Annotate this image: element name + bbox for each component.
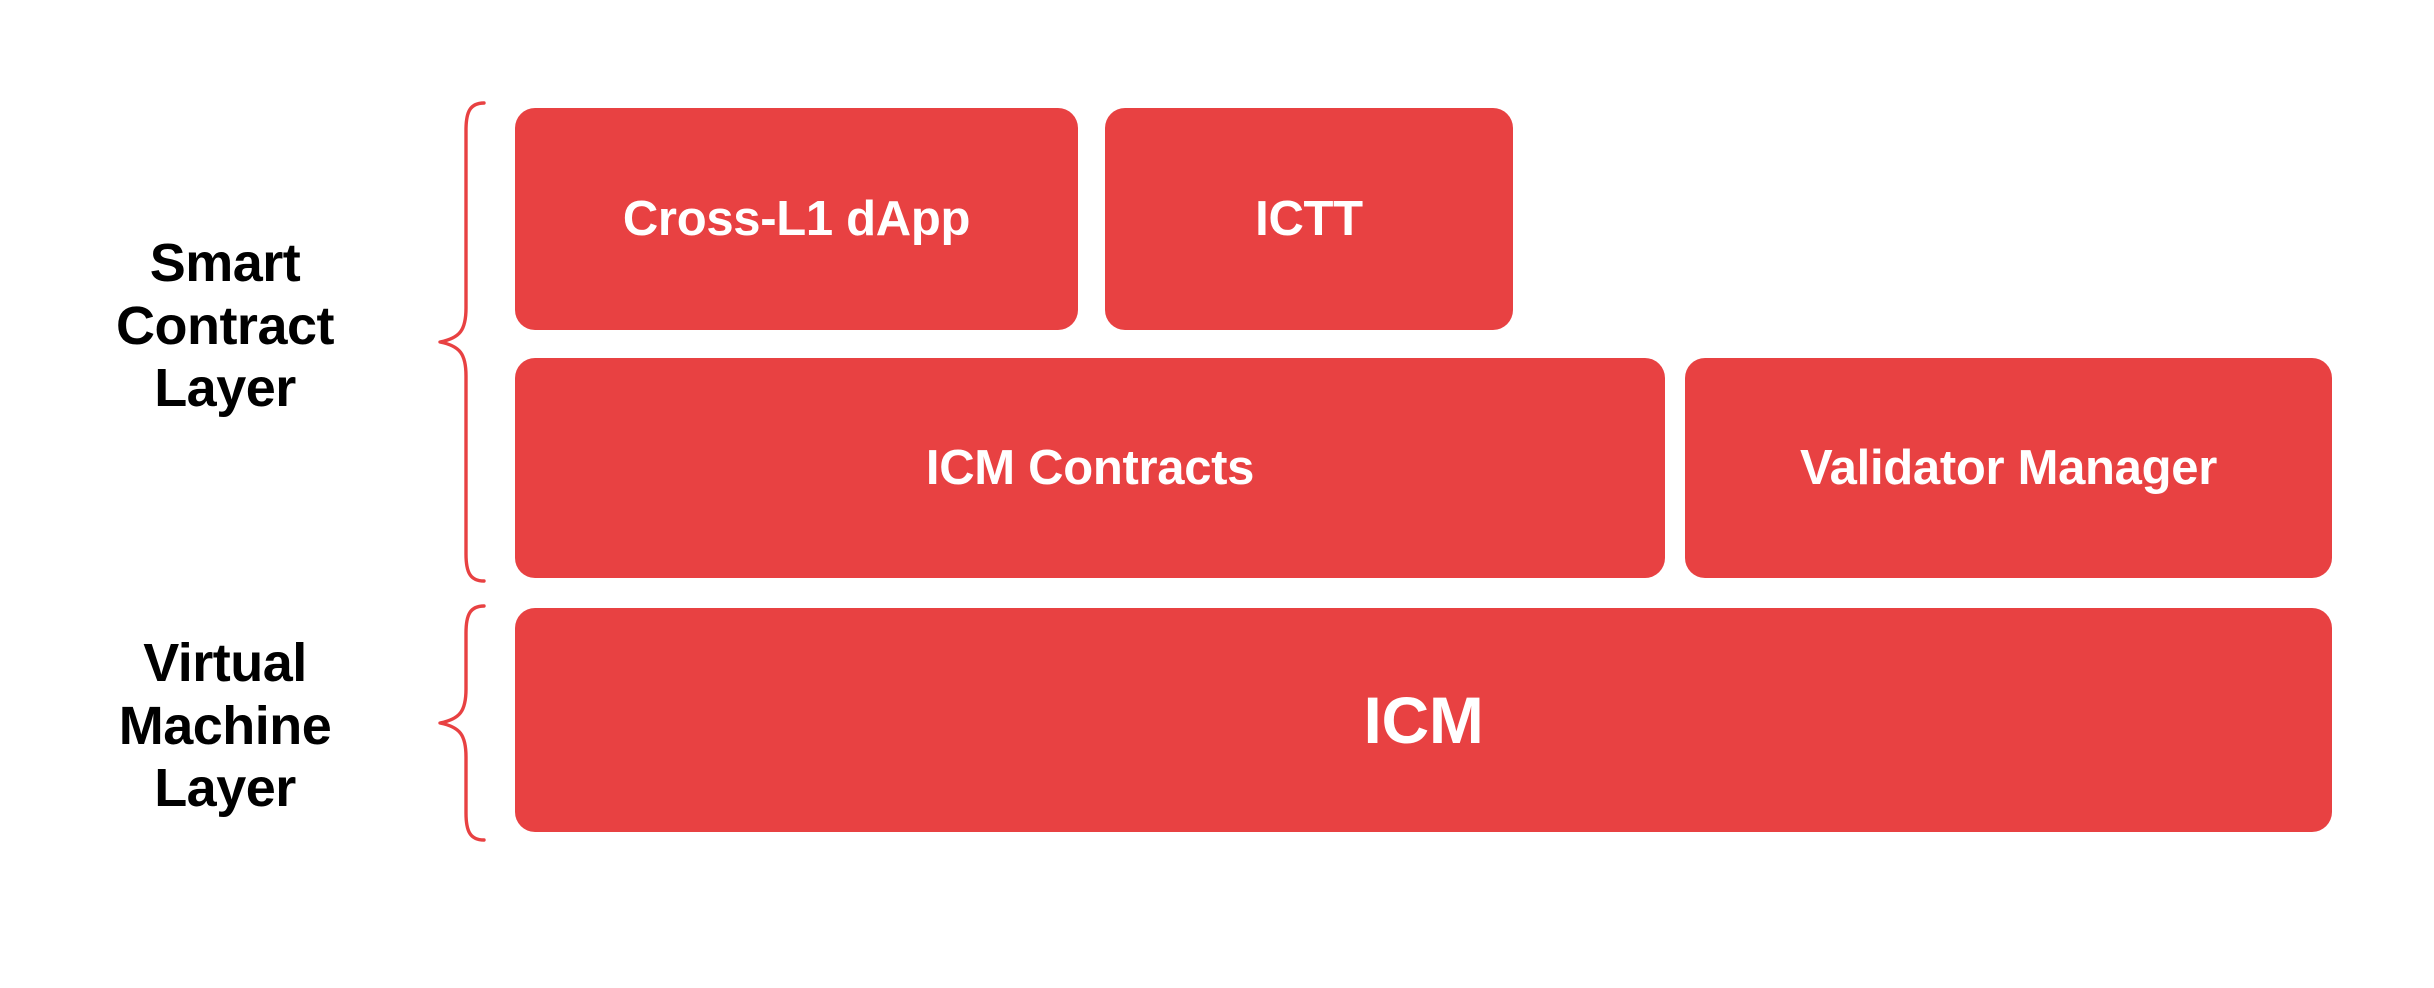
curly-brace-icon-virtual-machine-layer: [432, 603, 492, 843]
block-label-validator-manager: Validator Manager: [1800, 440, 2217, 496]
block-label-ictt: ICTT: [1255, 191, 1363, 247]
block-icm[interactable]: ICM: [515, 608, 2332, 832]
diagram-canvas: Smart Contract Layer Virtual Machine Lay…: [0, 0, 2434, 988]
block-label-cross-l1-dapp: Cross-L1 dApp: [623, 191, 970, 247]
block-ictt[interactable]: ICTT: [1105, 108, 1513, 330]
block-cross-l1-dapp[interactable]: Cross-L1 dApp: [515, 108, 1078, 330]
block-icm-contracts[interactable]: ICM Contracts: [515, 358, 1665, 578]
layer-label-virtual-machine-layer: Virtual Machine Layer: [60, 632, 390, 820]
block-label-icm: ICM: [1363, 682, 1483, 758]
block-validator-manager[interactable]: Validator Manager: [1685, 358, 2332, 578]
curly-brace-icon-smart-contract-layer: [432, 100, 492, 584]
block-label-icm-contracts: ICM Contracts: [926, 440, 1254, 496]
layer-label-smart-contract-layer: Smart Contract Layer: [60, 232, 390, 420]
